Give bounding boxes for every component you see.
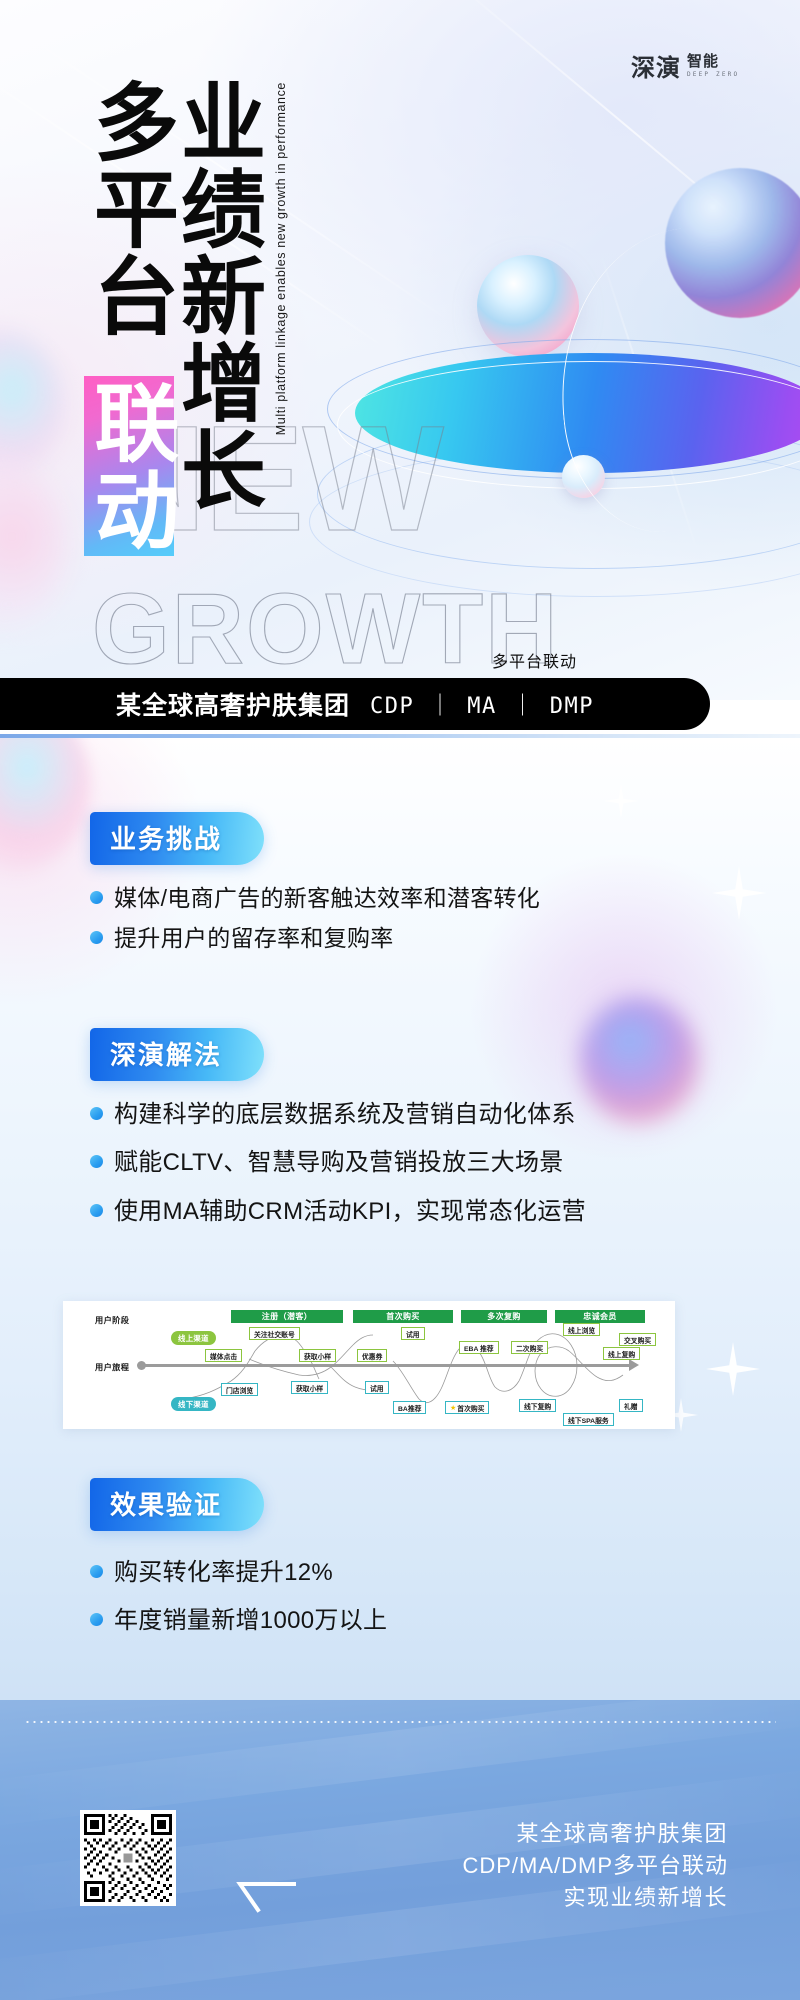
list-item: 构建科学的底层数据系统及营销自动化体系: [90, 1099, 800, 1131]
logo-en-sub: DEEP ZERO: [687, 72, 739, 78]
journey-axis-line: [141, 1364, 631, 1367]
journey-stage-3: 多次复购: [461, 1310, 547, 1323]
section-badge-deepzero-solution: 深演解法: [90, 1028, 264, 1081]
journey-node-offline-2: 获取小样: [291, 1381, 328, 1394]
hero-subtitle: 多平台联动: [492, 648, 577, 672]
list-item: 赋能CLTV、智慧导购及营销投放三大场景: [90, 1147, 800, 1179]
section-deepzero-solution: 深演解法 构建科学的底层数据系统及营销自动化体系 赋能CLTV、智慧导购及营销投…: [0, 1028, 800, 1244]
list-item: 购买转化率提升12%: [90, 1557, 800, 1589]
bullet-text: 媒体/电商广告的新客触达效率和潜客转化: [114, 883, 540, 914]
section-badge-result-validation: 效果验证: [90, 1478, 264, 1531]
bullet-dot-icon: [90, 1565, 103, 1578]
list-item: 年度销量新增1000万以上: [90, 1605, 800, 1637]
journey-node-online-8: 线上浏览: [563, 1323, 600, 1336]
footer-line-2: CDP/MA/DMP多平台联动: [462, 1850, 728, 1882]
journey-node-online-2: 媒体点击: [205, 1349, 242, 1362]
banner-product-list: CDP ｜ MA ｜ DMP: [370, 688, 594, 720]
footer-line-1: 某全球高奢护肤集团: [462, 1818, 728, 1850]
bullet-text: 年度销量新增1000万以上: [114, 1605, 387, 1637]
bullet-text: 使用MA辅助CRM活动KPI，实现常态化运营: [114, 1196, 586, 1228]
journey-channel-online: 线上渠道: [171, 1331, 216, 1345]
journey-node-online-7: 二次购买: [511, 1341, 548, 1354]
journey-row-label-journey: 用户旅程: [95, 1361, 129, 1373]
corner-arrow-icon: [228, 1880, 296, 1924]
bullet-text: 构建科学的底层数据系统及营销自动化体系: [114, 1099, 576, 1131]
bullet-dot-icon: [90, 1107, 103, 1120]
customer-journey-diagram: 用户阶段 用户旅程 注册（潜客） 首次购买 多次复购 忠诚会员: [63, 1301, 675, 1429]
journey-row-label-stage: 用户阶段: [95, 1314, 129, 1326]
hero-section: NEW GROWTH 多平台 业绩新增长 Multi platform link…: [0, 0, 800, 700]
journey-node-offline-3: 试用: [365, 1381, 389, 1394]
decorative-blob: [0, 330, 64, 480]
gradient-sphere-small: [562, 455, 605, 498]
section-badge-business-challenge: 业务挑战: [90, 812, 264, 865]
journey-node-online-10: 线上复购: [603, 1347, 640, 1360]
journey-node-online-4: 试用: [401, 1327, 425, 1340]
journey-node-online-6: EBA 推荐: [459, 1341, 499, 1354]
bullet-list-result-validation: 购买转化率提升12% 年度销量新增1000万以上: [90, 1557, 800, 1638]
footer-dotted-divider: [24, 1721, 776, 1723]
journey-node-online-1: 关注社交账号: [249, 1327, 300, 1340]
journey-stage-1: 注册（潜客）: [231, 1310, 343, 1323]
banner-divider: [0, 734, 800, 738]
footer-text-block: 某全球高奢护肤集团 CDP/MA/DMP多平台联动 实现业绩新增长: [462, 1818, 728, 1914]
journey-node-offline-6: 线下复购: [519, 1399, 556, 1412]
hero-title-col-left: 多平台: [86, 78, 171, 339]
list-item: 媒体/电商广告的新客触达效率和潜客转化: [90, 883, 800, 914]
hero-banner: 某全球高奢护肤集团 CDP ｜ MA ｜ DMP: [0, 678, 710, 730]
footer-line-3: 实现业绩新增长: [462, 1882, 728, 1914]
qr-code[interactable]: [80, 1810, 176, 1906]
outline-word-growth: GROWTH: [92, 572, 559, 687]
section-business-challenge: 业务挑战 媒体/电商广告的新客触达效率和潜客转化 提升用户的留存率和复购率: [0, 812, 800, 963]
logo-cn-mark: 深演: [631, 48, 681, 83]
list-item: 提升用户的留存率和复购率: [90, 923, 800, 954]
section-result-validation: 效果验证 购买转化率提升12% 年度销量新增1000万以上: [0, 1478, 800, 1654]
journey-stage-4: 忠诚会员: [555, 1310, 645, 1323]
banner-company-name: 某全球高奢护肤集团: [116, 686, 350, 722]
hero-title-highlight: 联动: [84, 376, 174, 556]
sparkle-icon: [706, 1342, 760, 1396]
journey-node-offline-1: 门店浏览: [221, 1383, 258, 1396]
hero-english-tagline: Multi platform linkage enables new growt…: [272, 82, 291, 435]
brand-logo[interactable]: 深演 智能 DEEP ZERO: [631, 48, 739, 83]
bullet-dot-icon: [90, 1613, 103, 1626]
journey-node-offline-5: 首次购买: [445, 1401, 489, 1414]
gradient-sphere-large: [665, 168, 800, 318]
bullet-dot-icon: [90, 1204, 103, 1217]
logo-right-group: 智能 DEEP ZERO: [687, 54, 739, 78]
journey-node-online-5: 优惠券: [357, 1349, 387, 1362]
hero-title-col-right: 业绩新增长: [173, 78, 258, 513]
poster-root: NEW GROWTH 多平台 业绩新增长 Multi platform link…: [0, 0, 800, 2000]
bullet-dot-icon: [90, 891, 103, 904]
journey-node-online-3: 获取小样: [299, 1349, 336, 1362]
logo-cn-sub: 智能: [687, 54, 739, 69]
qr-code-image: [84, 1814, 172, 1902]
journey-node-offline-7: 线下SPA服务: [563, 1413, 614, 1426]
bullet-text: 购买转化率提升12%: [114, 1557, 333, 1589]
journey-stage-2: 首次购买: [353, 1310, 453, 1323]
bullet-text: 提升用户的留存率和复购率: [114, 923, 394, 954]
bullet-text: 赋能CLTV、智慧导购及营销投放三大场景: [114, 1147, 564, 1179]
journey-node-offline-4: BA推荐: [393, 1401, 426, 1414]
journey-node-offline-8: 礼赠: [619, 1399, 643, 1412]
decorative-blob: [0, 460, 68, 630]
bullet-list-business-challenge: 媒体/电商广告的新客触达效率和潜客转化 提升用户的留存率和复购率: [90, 883, 800, 954]
journey-axis-arrow: [629, 1359, 639, 1371]
bullet-list-deepzero-solution: 构建科学的底层数据系统及营销自动化体系 赋能CLTV、智慧导购及营销投放三大场景…: [90, 1099, 800, 1228]
journey-channel-offline: 线下渠道: [171, 1397, 216, 1411]
journey-axis-start: [137, 1361, 146, 1370]
list-item: 使用MA辅助CRM活动KPI，实现常态化运营: [90, 1196, 800, 1228]
bullet-dot-icon: [90, 931, 103, 944]
journey-node-online-9: 交叉购买: [619, 1333, 656, 1346]
bullet-dot-icon: [90, 1155, 103, 1168]
